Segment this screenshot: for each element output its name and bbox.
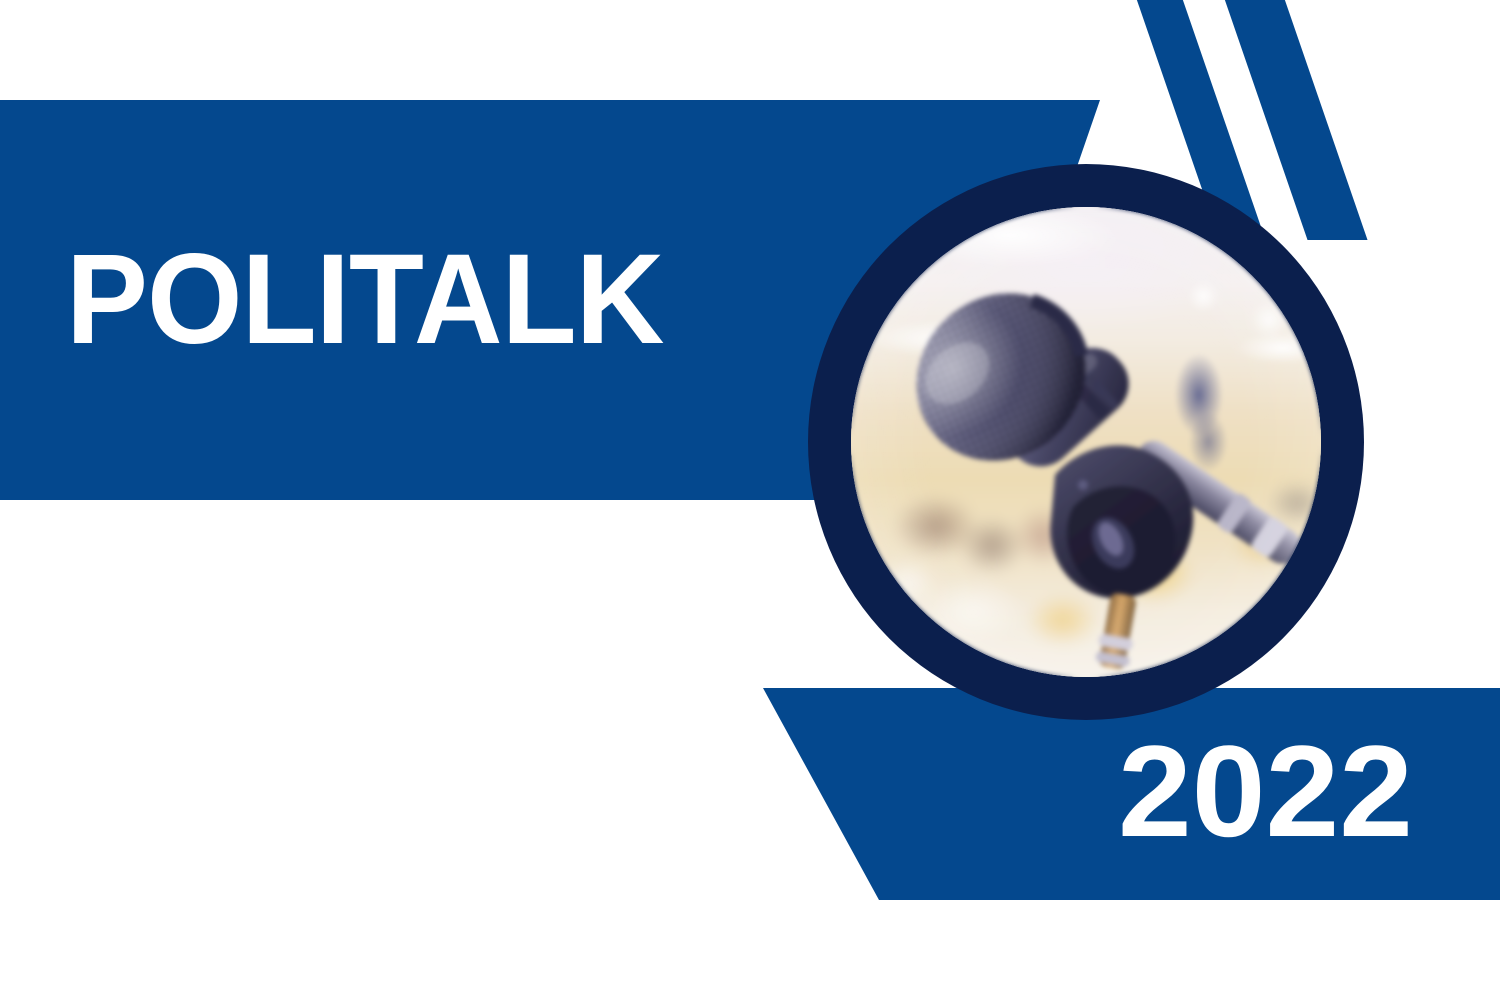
page-title: POLITALK (66, 236, 664, 364)
medallion-ring (808, 164, 1364, 720)
medallion-photo (851, 207, 1321, 677)
photo-vignette-layer (851, 207, 1321, 677)
poster-canvas: POLITALK 2022 (0, 0, 1500, 1000)
year-label: 2022 (1118, 726, 1413, 856)
